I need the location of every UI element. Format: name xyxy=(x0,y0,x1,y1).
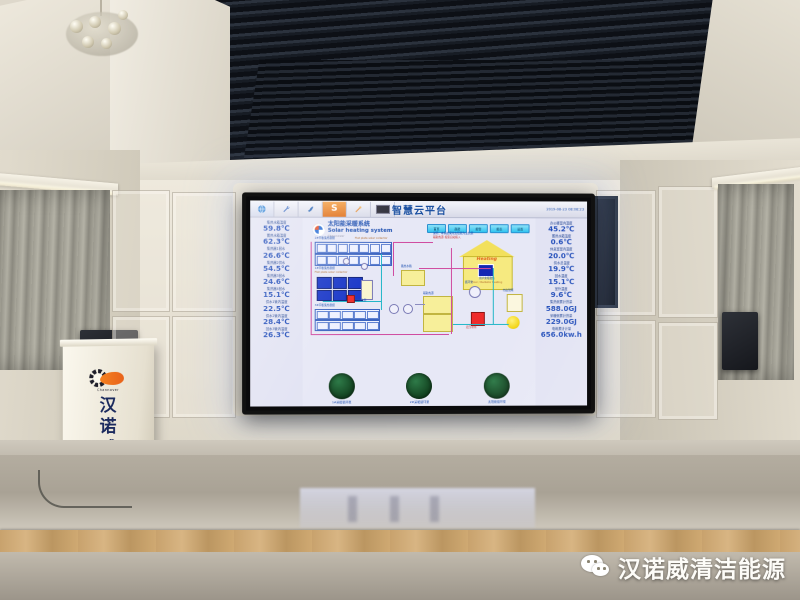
wechat-dot xyxy=(587,560,590,563)
collector-3-label-cn: 3#平板集热器组 xyxy=(315,304,335,307)
right-readout-value: 656.0kw.h xyxy=(541,331,582,339)
wechat-bubble-small xyxy=(592,563,609,576)
chandelier-bulb xyxy=(82,36,94,48)
process-diagram: 太阳能采暖系统 Solar heating system Channover 首… xyxy=(303,218,536,407)
collector-1-label-cn: 2#平板集热器组 xyxy=(315,237,335,240)
wall-panel xyxy=(658,186,718,318)
pipe-return xyxy=(381,254,382,310)
pump-gauge[interactable]: 1#采暖循环泵 xyxy=(329,373,355,404)
left-readout-value: 22.5℃ xyxy=(263,305,290,314)
app-toolbar: S 智慧云平台 2019-08-23 08:08:23 xyxy=(250,200,587,218)
right-readout-label: 采暖侧累计热量 xyxy=(550,314,572,318)
led-display-screen: S 智慧云平台 2019-08-23 08:08:23 集热水箱温度59.8℃蓄… xyxy=(250,200,587,406)
wall-panel xyxy=(596,320,656,418)
heat-exchanger-label-cn: 板式换热器 xyxy=(353,299,366,302)
left-readout-label: 集热水箱温度 xyxy=(267,221,286,225)
diagram-title-en: Solar heating system xyxy=(328,228,393,234)
wechat-icon xyxy=(581,555,611,579)
chandelier-bulb xyxy=(89,16,101,28)
app-title: 智慧云平台 xyxy=(250,201,587,217)
pump-dial xyxy=(406,373,432,399)
storage-tank-1 xyxy=(401,270,425,286)
right-readout-value: 0.6℃ xyxy=(551,239,572,247)
left-readout-label: 集热器2供水 xyxy=(267,261,285,265)
pump-icon xyxy=(469,286,481,298)
wall-panel xyxy=(112,190,170,312)
storage-tank-label: 蓄热水箱 xyxy=(401,265,412,268)
house-roof xyxy=(459,240,515,257)
reflection-bar xyxy=(390,496,399,522)
pump-dial xyxy=(484,373,510,399)
collector-2-label-en: Flat plate solar collector xyxy=(315,271,348,274)
left-readout-label: 供水1管内温度 xyxy=(266,300,288,304)
sun-icon xyxy=(507,316,520,329)
right-readout-value: 588.0GJ xyxy=(546,305,577,313)
left-readout-value: 26.3℃ xyxy=(263,331,290,340)
pipe-return xyxy=(453,324,509,325)
pipe-supply xyxy=(311,334,449,335)
boiler-label: 定压补水 xyxy=(466,326,477,329)
channover-logo: Channover xyxy=(89,368,127,390)
pipe-supply xyxy=(451,248,452,334)
reflection-bar xyxy=(348,496,357,522)
right-readout-label: 集热侧累计热量 xyxy=(550,301,572,305)
plate-heat-exchanger xyxy=(361,280,373,300)
right-readout-value: 229.0GJ xyxy=(546,318,577,326)
solar-collector-array-1 xyxy=(315,242,392,254)
chandelier-bulb xyxy=(108,22,121,35)
right-readout-column: 办公楼室内温度45.2℃蓄热水箱温度0.6℃休息室室内温度20.0℃供水总温度1… xyxy=(536,218,588,405)
chandelier-bulb xyxy=(70,20,83,33)
wall-panel xyxy=(658,322,718,420)
pump-dial xyxy=(329,373,355,399)
pump-label: 1#采暖循环泵 xyxy=(332,400,352,404)
left-readout-value: 24.6℃ xyxy=(263,278,290,287)
pipe-supply xyxy=(393,242,394,276)
reflection-bar xyxy=(430,496,439,522)
pump-gauge[interactable]: 2#采暖循环泵 xyxy=(406,373,432,404)
solar-collector-array-4 xyxy=(315,320,380,331)
left-readout-label: 集热器1回水 xyxy=(267,247,285,251)
left-readout-value: 26.6℃ xyxy=(263,251,290,260)
left-readout-label: 蓄热水箱温度 xyxy=(267,234,286,238)
lectern-top xyxy=(60,338,157,347)
right-readout-value: 9.6℃ xyxy=(551,291,572,299)
pump-label: 2#采暖循环泵 xyxy=(410,400,429,404)
watermark: 汉诺威清洁能源 xyxy=(581,550,786,584)
chandelier xyxy=(56,0,148,66)
solar-collector-array-3 xyxy=(315,309,380,320)
grid-label: 市政管网 xyxy=(503,289,514,292)
collector-1-label-en: Flat plate solar collector xyxy=(355,237,388,240)
right-readout-label: 蓄热水箱温度 xyxy=(552,235,571,239)
right-readout-value: 19.9℃ xyxy=(548,265,574,273)
pipe-supply xyxy=(311,242,312,334)
right-readout-value: 15.1℃ xyxy=(548,278,574,286)
right-readout-label: 电耗累计计量 xyxy=(552,327,571,331)
right-readout-value: 45.2℃ xyxy=(548,226,574,235)
left-readout-value: 15.1℃ xyxy=(263,291,290,300)
grid-symbol xyxy=(507,294,523,312)
pipe-supply xyxy=(393,242,433,243)
power-cable xyxy=(38,470,132,508)
pipe-supply xyxy=(419,268,491,269)
right-readout-label: 回水温度 xyxy=(555,274,568,278)
wall-panel xyxy=(172,316,236,418)
nav-button[interactable]: 设置 xyxy=(511,224,530,233)
wechat-dot xyxy=(603,567,606,570)
left-readout-label: 供水2管内温度 xyxy=(266,314,288,318)
wall-panel xyxy=(172,192,236,312)
valve-icon xyxy=(389,304,399,314)
pipe-return xyxy=(493,268,494,324)
house-window xyxy=(478,264,494,277)
scada-body: 集热水箱温度59.8℃蓄热水箱温度62.3℃集热器1回水26.6℃集热器2供水5… xyxy=(250,218,587,407)
chandelier-bulb xyxy=(118,10,128,20)
right-readout-value: 20.0℃ xyxy=(548,252,574,260)
fish-icon xyxy=(100,372,124,385)
left-readout-value: 62.3℃ xyxy=(263,238,290,247)
wechat-dot xyxy=(594,560,597,563)
right-readout-label: 办公楼室内温度 xyxy=(550,221,572,225)
screen-floor-reflection xyxy=(300,488,535,528)
sensor-icon xyxy=(361,263,368,270)
left-readout-value: 59.8℃ xyxy=(263,225,290,234)
pump-label: 太阳能循环泵 xyxy=(488,400,506,404)
wechat-dot xyxy=(597,567,600,570)
alarm-indicator xyxy=(347,295,355,303)
conference-room-photo: S 智慧云平台 2019-08-23 08:08:23 集热水箱温度59.8℃蓄… xyxy=(0,0,800,600)
pipe-connector xyxy=(415,304,425,305)
pump-gauge[interactable]: 太阳能循环泵 xyxy=(484,373,510,404)
sensor-icon xyxy=(343,258,350,265)
left-readout-label: 集热器3回水 xyxy=(267,274,285,278)
pump-status-row: 1#采暖循环泵2#采暖循环泵太阳能循环泵 xyxy=(303,373,536,405)
channover-logo-icon xyxy=(313,224,325,236)
chandelier-body xyxy=(66,12,138,56)
left-readout-value: 54.5℃ xyxy=(263,265,290,274)
left-readout-label: 集热器4回水 xyxy=(267,287,285,291)
house-heating-label: Heating xyxy=(459,257,515,262)
right-readout-label: 室外温度 xyxy=(555,287,568,291)
watermark-text: 汉诺威清洁能源 xyxy=(618,550,786,584)
led-display-frame: S 智慧云平台 2019-08-23 08:08:23 集热水箱温度59.8℃蓄… xyxy=(242,192,595,414)
nav-button[interactable]: 报表 xyxy=(490,224,509,233)
aux-boiler-label: 辅助热源 xyxy=(423,292,434,295)
right-readout-label: 供水总温度 xyxy=(553,261,569,265)
window-right xyxy=(594,196,618,308)
lectern-brand-latin: Channover xyxy=(89,388,127,392)
valve-icon xyxy=(403,304,413,314)
timestamp: 2019-08-23 08:08:23 xyxy=(546,207,584,211)
aux-boiler-box-1 xyxy=(423,296,453,314)
aux-boiler-box-2 xyxy=(423,314,453,332)
diagram-note-2: 辅助热源 按需自动投入 xyxy=(433,236,461,239)
left-readout-label: 回水3管内温度 xyxy=(266,327,288,331)
speaker-right xyxy=(722,312,758,370)
chandelier-bulb xyxy=(101,38,112,49)
left-readout-column: 集热水箱温度59.8℃蓄热水箱温度62.3℃集热器1回水26.6℃集热器2供水5… xyxy=(250,218,302,407)
right-readout-label: 休息室室内温度 xyxy=(550,248,572,252)
left-readout-value: 28.4℃ xyxy=(263,318,290,327)
pump-label: 循环泵 xyxy=(465,281,473,284)
